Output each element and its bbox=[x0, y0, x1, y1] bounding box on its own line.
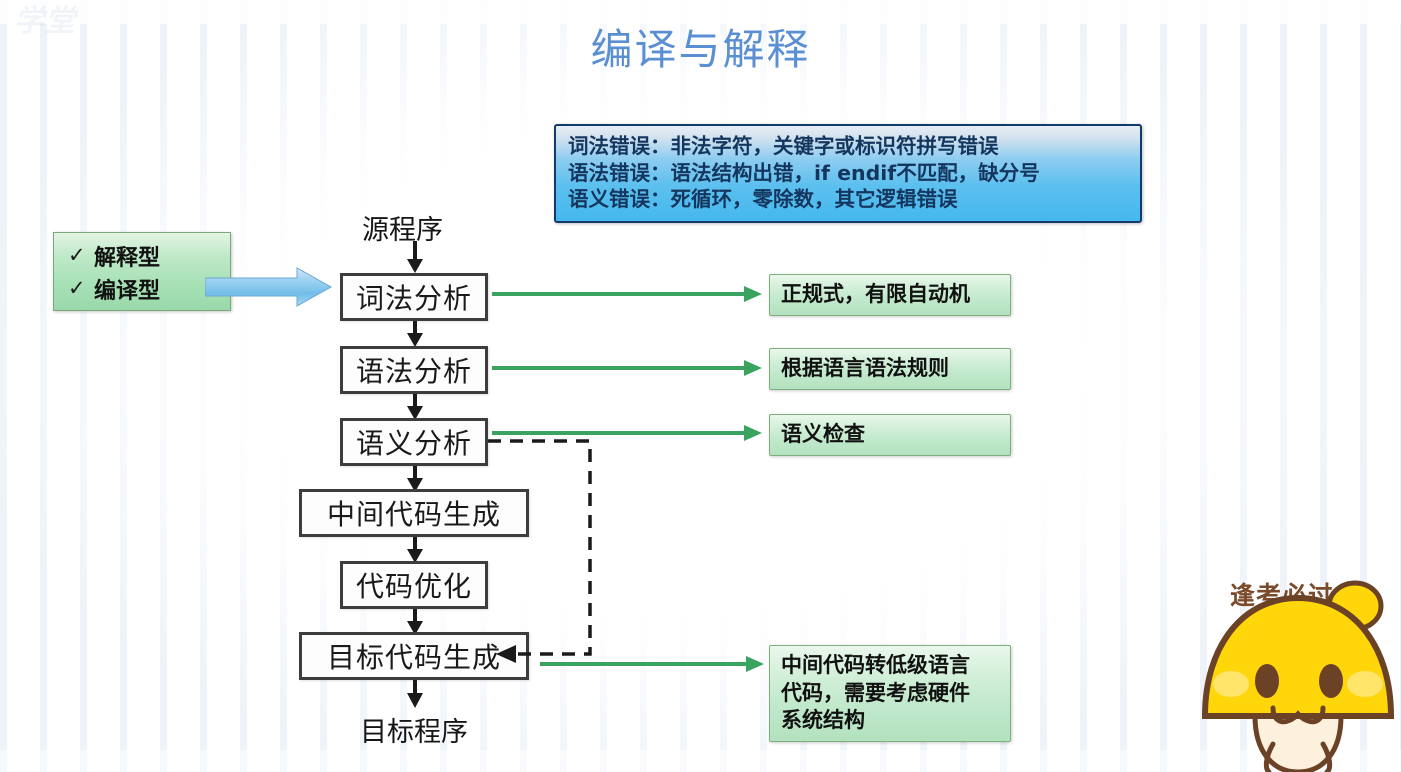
arrow-down-to-syntax-icon bbox=[403, 321, 427, 347]
flow-step-label: 语义分析 bbox=[356, 422, 472, 462]
flow-step-syntax-analysis[interactable]: 语法分析 bbox=[340, 346, 488, 394]
note-text: 中间代码转低级语言 bbox=[781, 652, 1002, 680]
blue-block-arrow-icon bbox=[205, 266, 335, 308]
flow-step-semantic-analysis[interactable]: 语义分析 bbox=[340, 418, 488, 466]
green-arrow-to-lexical-note-icon bbox=[492, 282, 764, 306]
note-text: 代码，需要考虑硬件 bbox=[781, 680, 1002, 708]
error-line-syntax: 语法错误：语法结构出错，if endif不匹配，缺分号 bbox=[568, 160, 1130, 187]
check-icon: ✓ bbox=[68, 245, 94, 266]
check-icon: ✓ bbox=[68, 278, 94, 299]
green-arrow-to-syntax-note-icon bbox=[492, 356, 764, 380]
green-arrow-to-target-code-note-icon bbox=[540, 652, 766, 676]
note-text: 正规式，有限自动机 bbox=[781, 281, 1002, 309]
arrow-down-to-optimization-icon bbox=[403, 537, 427, 563]
flow-step-label: 目标代码生成 bbox=[327, 636, 501, 676]
error-line-semantic: 语义错误：死循环，零除数，其它逻辑错误 bbox=[568, 186, 1130, 213]
note-text: 根据语言语法规则 bbox=[781, 355, 1002, 383]
flow-step-lexical-analysis[interactable]: 词法分析 bbox=[340, 273, 488, 321]
page-title: 编译与解释 bbox=[0, 16, 1401, 77]
note-lexical: 正规式，有限自动机 bbox=[769, 274, 1011, 316]
background-bottom-band bbox=[0, 750, 1401, 772]
note-syntax: 根据语言语法规则 bbox=[769, 348, 1011, 390]
type-label-interpreted: 解释型 bbox=[94, 240, 160, 272]
note-target-code: 中间代码转低级语言 代码，需要考虑硬件 系统结构 bbox=[769, 645, 1011, 742]
slide-canvas: 学堂 编译与解释 词法错误：非法字符，关键字或标识符拼写错误 语法错误：语法结构… bbox=[0, 0, 1401, 772]
flow-step-label: 中间代码生成 bbox=[327, 493, 501, 533]
mushroom-mascot-icon bbox=[1195, 566, 1401, 772]
arrow-down-to-target-program-icon bbox=[403, 680, 427, 708]
flow-step-label: 代码优化 bbox=[356, 565, 472, 605]
note-text: 语义检查 bbox=[781, 421, 1002, 449]
arrow-down-to-lexical-icon bbox=[403, 241, 427, 273]
flow-end-label: 目标程序 bbox=[360, 710, 468, 749]
type-label-compiled: 编译型 bbox=[94, 273, 160, 305]
error-types-callout: 词法错误：非法字符，关键字或标识符拼写错误 语法错误：语法结构出错，if end… bbox=[554, 124, 1142, 223]
arrow-down-to-semantic-icon bbox=[403, 394, 427, 420]
flow-step-label: 语法分析 bbox=[356, 350, 472, 390]
error-line-lexical: 词法错误：非法字符，关键字或标识符拼写错误 bbox=[568, 133, 1130, 160]
flow-step-code-optimization[interactable]: 代码优化 bbox=[340, 561, 488, 609]
green-arrow-to-semantic-note-icon bbox=[492, 421, 764, 445]
dashed-feedback-path bbox=[480, 430, 610, 670]
flow-step-label: 词法分析 bbox=[356, 277, 472, 317]
note-semantic: 语义检查 bbox=[769, 414, 1011, 456]
note-text: 系统结构 bbox=[781, 707, 1002, 735]
